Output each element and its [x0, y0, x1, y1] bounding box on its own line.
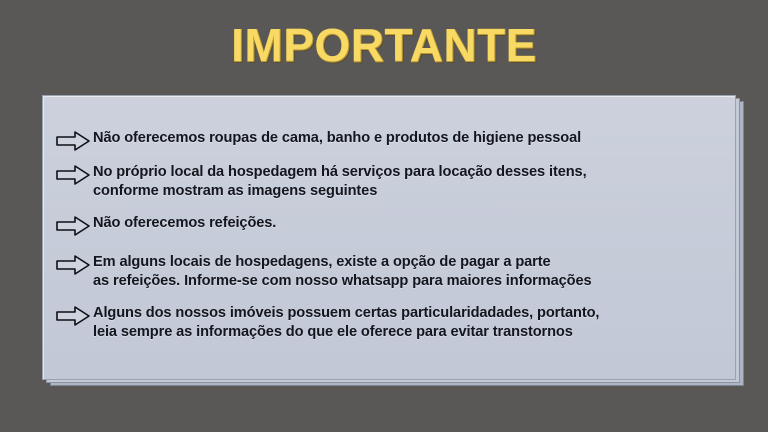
list-item-text: No próprio local da hospedagem há serviç… [93, 163, 729, 200]
list-item-text: Em alguns locais de hospedagens, existe … [93, 253, 729, 290]
block-arrow-right-icon [55, 254, 91, 276]
list-item: Não oferecemos refeições. [55, 214, 729, 237]
list-item: Alguns dos nossos imóveis possuem certas… [55, 304, 729, 341]
list-item: No próprio local da hospedagem há serviç… [55, 163, 729, 200]
list-item: Em alguns locais de hospedagens, existe … [55, 253, 729, 290]
list-item: Não oferecemos roupas de cama, banho e p… [55, 129, 729, 152]
block-arrow-right-icon [55, 164, 91, 186]
slide-canvas: IMPORTANTE Não oferecemos roupas de cama… [0, 0, 768, 432]
bullet-list: Não oferecemos roupas de cama, banho e p… [55, 129, 729, 341]
content-panel: Não oferecemos roupas de cama, banho e p… [42, 95, 736, 380]
list-item-text: Alguns dos nossos imóveis possuem certas… [93, 304, 729, 341]
block-arrow-right-icon [55, 215, 91, 237]
block-arrow-right-icon [55, 130, 91, 152]
block-arrow-right-icon [55, 305, 91, 327]
list-item-text: Não oferecemos roupas de cama, banho e p… [93, 129, 729, 148]
list-item-text: Não oferecemos refeições. [93, 214, 729, 233]
page-title: IMPORTANTE [0, 22, 768, 68]
